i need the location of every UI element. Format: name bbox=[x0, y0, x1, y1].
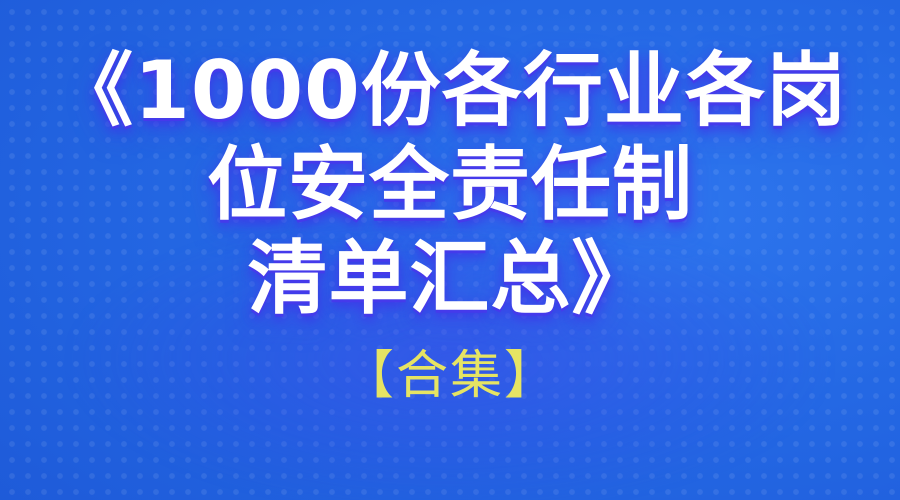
promo-banner: 《1000份各行业各岗 位安全责任制 清单汇总》 【合集】 bbox=[0, 0, 900, 500]
headline-line-1: 《1000份各行业各岗 bbox=[53, 44, 847, 138]
banner-content: 《1000份各行业各岗 位安全责任制 清单汇总》 【合集】 bbox=[0, 0, 900, 500]
banner-headline: 《1000份各行业各岗 位安全责任制 清单汇总》 bbox=[53, 44, 847, 326]
banner-subtitle: 【合集】 bbox=[342, 346, 558, 406]
headline-line-3: 清单汇总》 bbox=[53, 232, 847, 326]
headline-line-2: 位安全责任制 bbox=[53, 138, 847, 232]
